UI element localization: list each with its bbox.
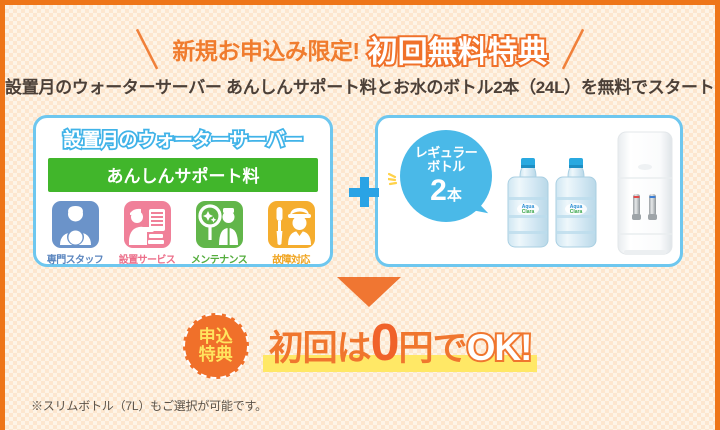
bubble-line1: レギュラー [415,146,478,160]
water-server-dispenser [614,130,676,258]
subtitle: 設置月のウォーターサーバー あんしんサポート料とお水のボトル2本（24L）を無料… [5,73,715,98]
banner-inner-field: ＼ 新規お申込み限定! 初回無料特典 ／ 設置月のウォーターサーバー あんしんサ… [5,5,715,430]
support-fee-bar: あんしんサポート料 [48,158,318,192]
service-item: 設置サービス [115,201,179,266]
service-item-label: メンテナンス [187,251,251,266]
bottle-count-bubble: レギュラー ボトル 2本 [400,130,492,222]
promo-banner: ＼ 新規お申込み限定! 初回無料特典 ／ 設置月のウォーターサーバー あんしんサ… [0,0,720,430]
bottle-card: レギュラー ボトル 2本 [375,115,683,267]
headline-part2: 初回無料特典 [368,27,548,71]
service-card: 設置月のウォーターサーバー あんしんサポート料 専門スタ [33,115,333,267]
service-item-label: 専門スタッフ [43,251,107,266]
installation-worker-icon [124,201,171,248]
offer-zero: 0 [371,320,399,367]
footnote: ※スリムボトル（7L）もご選択が可能です。 [31,397,267,414]
offer-text-b: 円で [399,320,467,371]
slash-left-icon: ＼ [125,29,168,72]
svg-text:Clara: Clara [570,209,583,215]
service-item-label: 故障対応 [259,251,323,266]
service-card-title: 設置月のウォーターサーバー [36,125,330,152]
svg-text:Clara: Clara [522,209,535,215]
sparkle-icon [388,172,406,186]
offer-row: 申込 特典 初回は 0 円で OK! [5,313,715,379]
service-item: 専門スタッフ [43,201,107,266]
headline: ＼ 新規お申込み限定! 初回無料特典 ／ [5,27,715,71]
service-item: 故障対応 [259,201,323,266]
offer-ok: OK! [467,327,532,369]
badge-line1: 申込 [199,328,233,346]
service-item: メンテナンス [187,201,251,266]
application-bonus-badge: 申込 特典 [183,313,249,379]
badge-line2: 特典 [199,346,233,364]
down-arrow-icon [337,277,401,307]
headline-part1: 新規お申込み限定! [172,32,359,66]
offer-headline: 初回は 0 円で OK! [263,320,538,373]
slash-right-icon: ／ [552,29,595,72]
maintenance-inspection-icon [196,201,243,248]
plus-icon [349,177,379,207]
water-bottles: Aqua Clara Aqua Clara [496,153,608,253]
bubble-line2: ボトル [427,160,465,174]
staff-person-icon [52,201,99,248]
repair-screwdriver-icon [268,201,315,248]
bubble-count: 2本 [430,175,462,207]
service-icon-row: 専門スタッフ [36,201,330,266]
offer-text-a: 初回は [269,320,371,371]
service-item-label: 設置サービス [115,251,179,266]
